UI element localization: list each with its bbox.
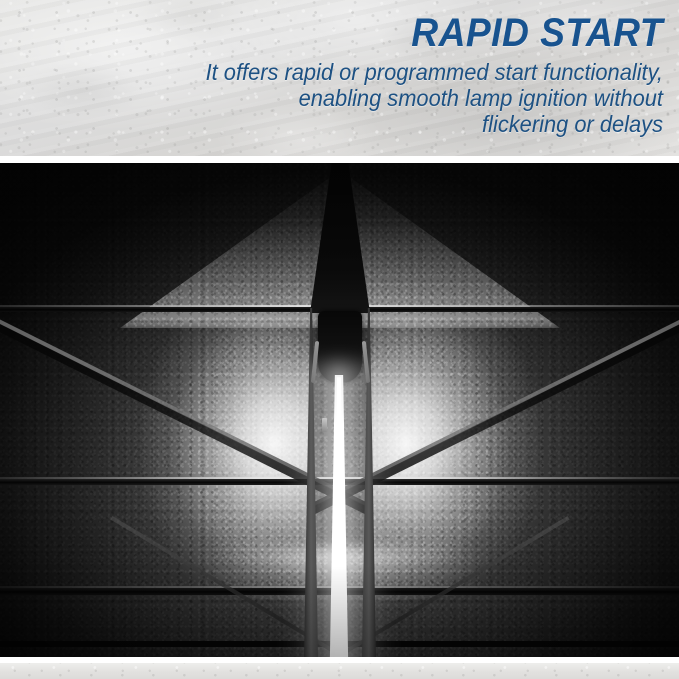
header-text-block: RAPID START It offers rapid or programme… [23, 12, 663, 137]
header-subtitle: It offers rapid or programmed start func… [55, 59, 663, 137]
fixture-clip [322, 418, 327, 432]
footer-grain-texture [0, 663, 679, 679]
page-title: RAPID START [68, 12, 663, 54]
subtitle-line-3: flickering or delays [55, 111, 663, 137]
ceiling-light-photo [0, 163, 679, 657]
subtitle-line-2: enabling smooth lamp ignition without [55, 85, 663, 111]
subtitle-line-1: It offers rapid or programmed start func… [55, 59, 663, 85]
footer-strip [0, 663, 679, 679]
header-photo-divider [0, 156, 679, 163]
light-fixture-housing [318, 311, 362, 383]
product-feature-graphic: RAPID START It offers rapid or programme… [0, 0, 679, 679]
header-banner: RAPID START It offers rapid or programme… [0, 0, 679, 156]
